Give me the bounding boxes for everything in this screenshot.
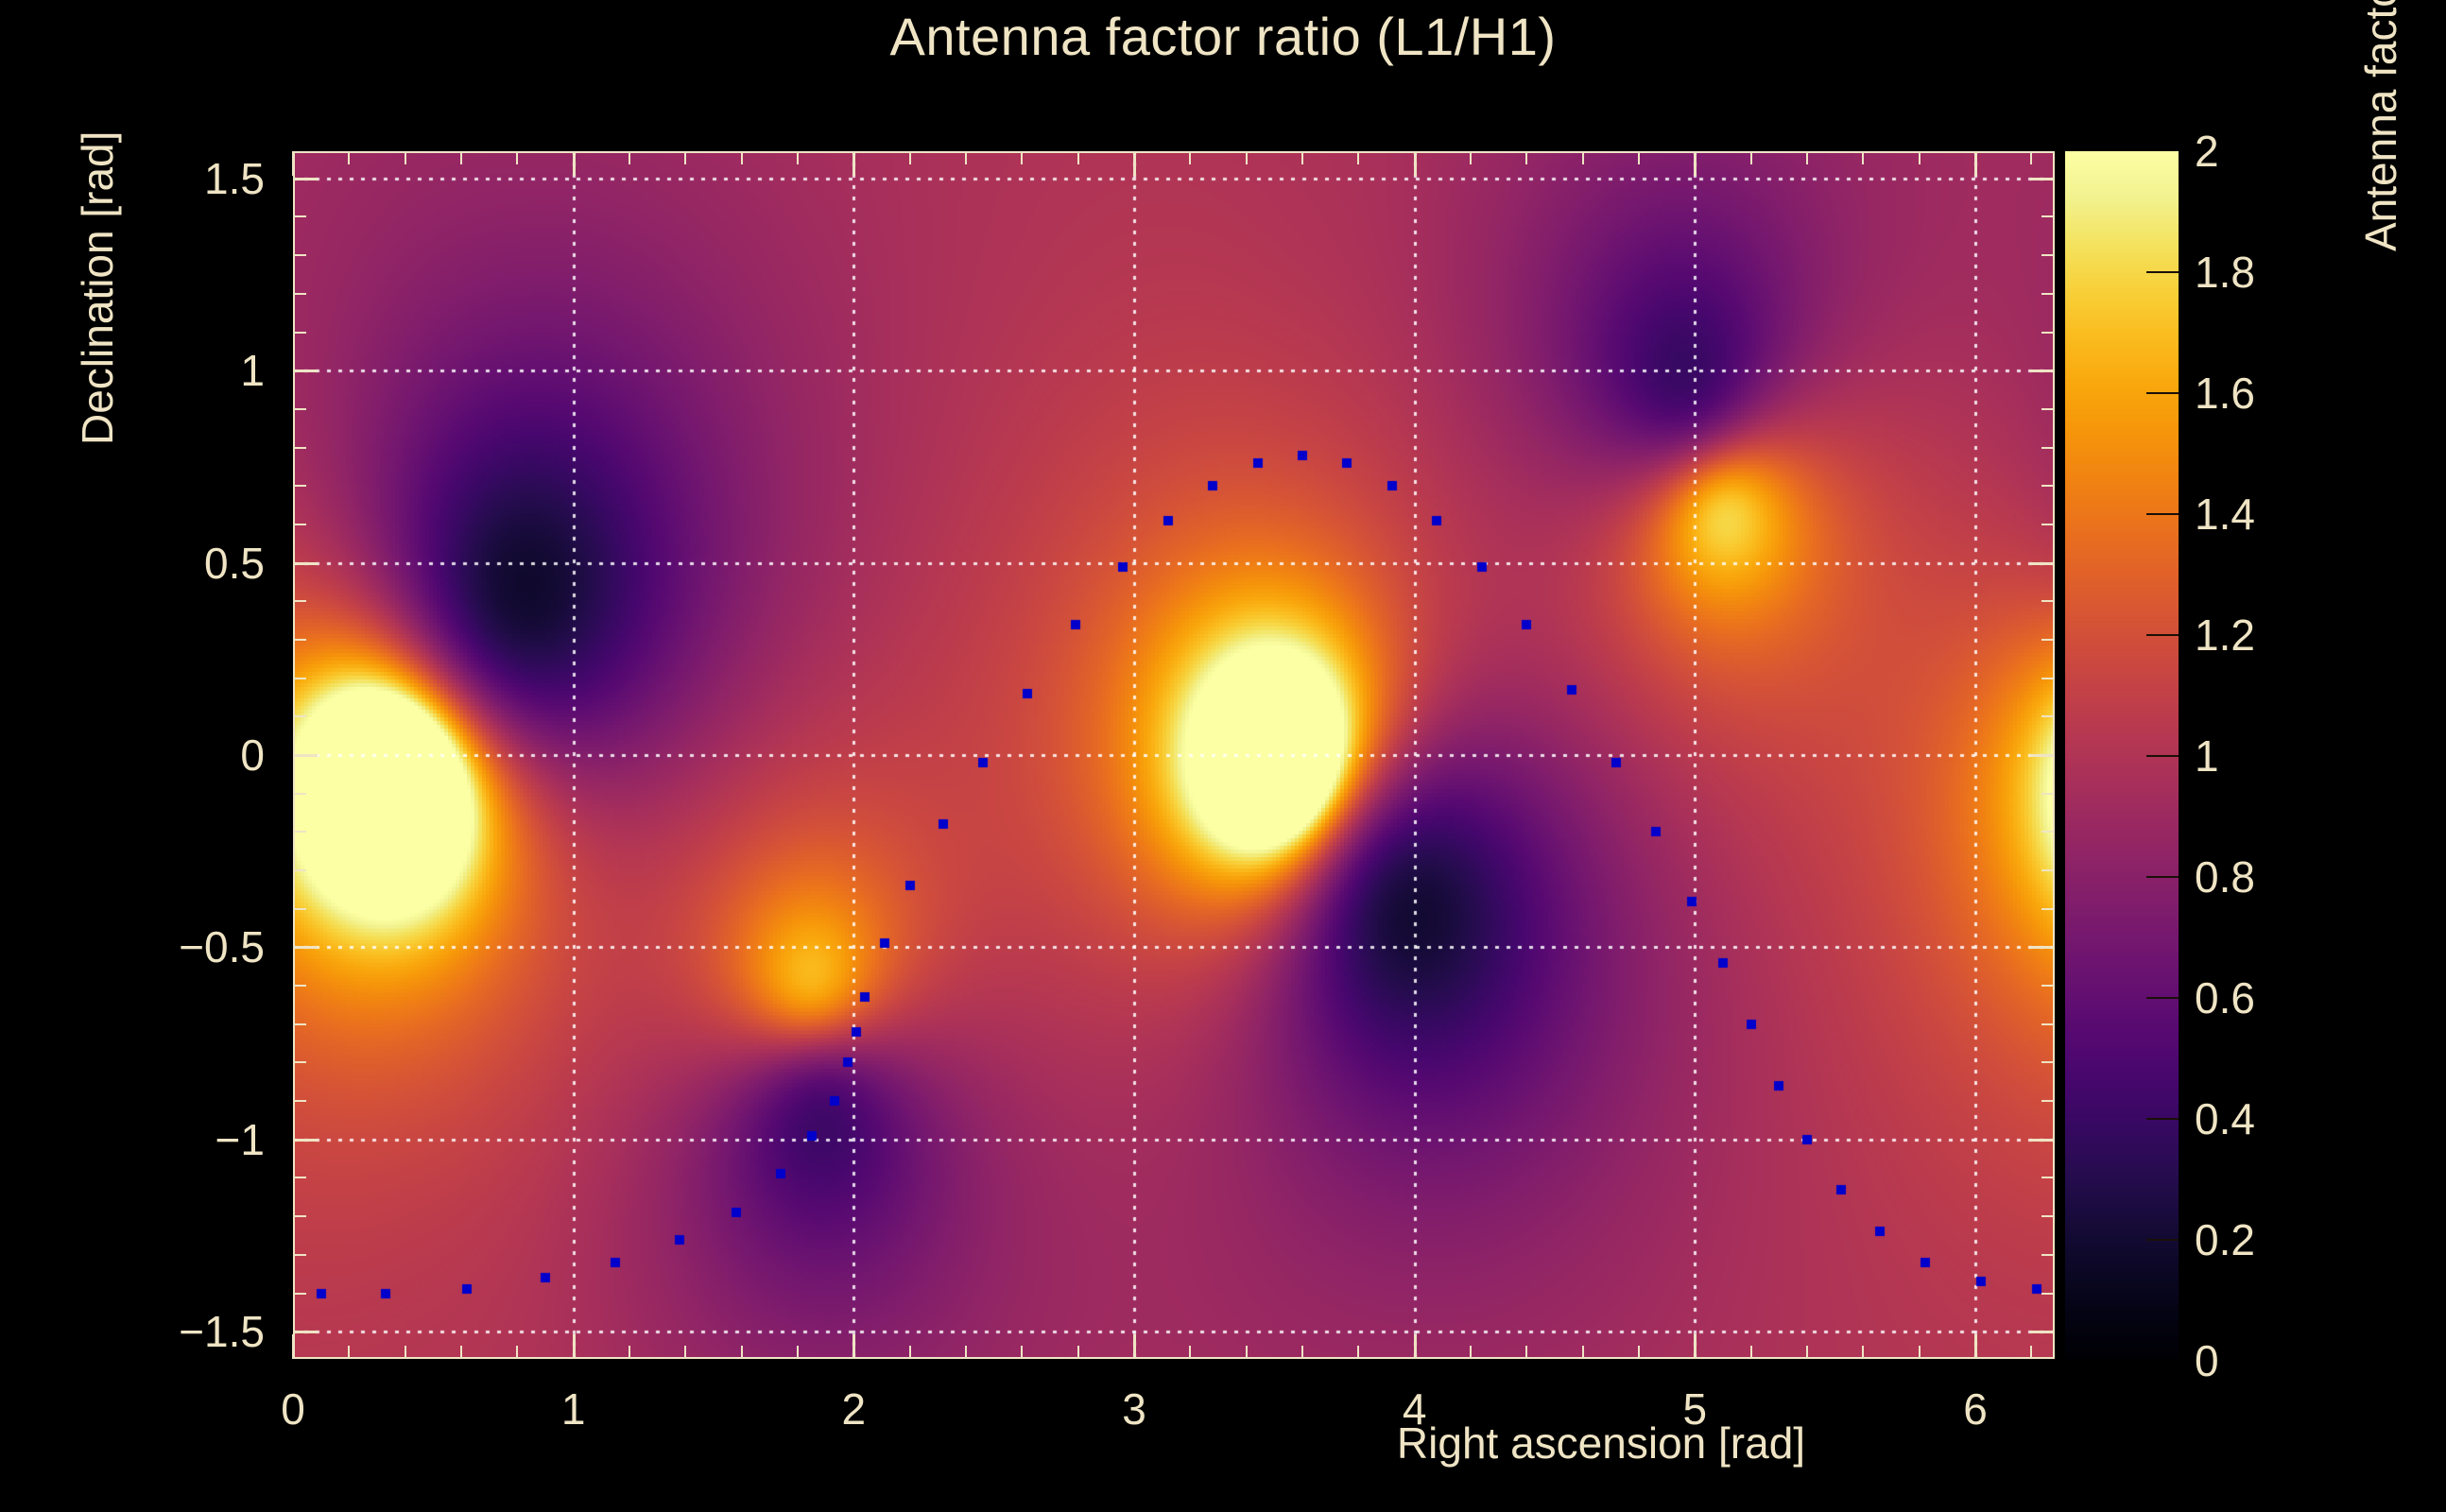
x-axis-minor-tick: [516, 1346, 518, 1359]
y-axis-minor-tick: [293, 293, 306, 295]
x-axis-minor-tick: [1750, 1346, 1752, 1359]
colorbar-tick: [2146, 876, 2179, 878]
y-axis-tick-label: 1.5: [104, 153, 265, 204]
y-axis-minor-tick-right: [2041, 1215, 2055, 1217]
y-axis-minor-tick: [293, 1293, 306, 1295]
y-axis-tick: [293, 178, 318, 180]
x-axis-tick: [1974, 1334, 1977, 1359]
colorbar-tick-label: 1.4: [2195, 489, 2255, 540]
x-axis-minor-tick: [1582, 1346, 1584, 1359]
y-axis-tick-label: 0: [104, 730, 265, 781]
y-axis-tick: [293, 946, 318, 949]
colorbar-tick-label: 0.4: [2195, 1093, 2255, 1144]
x-axis-tick: [1133, 1334, 1136, 1359]
y-axis-minor-tick: [293, 1100, 306, 1102]
y-axis-tick: [293, 1331, 318, 1333]
y-axis-minor-tick-right: [2041, 715, 2055, 717]
figure-canvas: Antenna factor ratio (L1/H1) Right ascen…: [0, 0, 2446, 1512]
x-axis-tick-label: 5: [1683, 1383, 1708, 1435]
y-axis-minor-tick-right: [2041, 1100, 2055, 1102]
heatmap-plot-area: [293, 151, 2055, 1359]
x-axis-tick: [853, 1334, 855, 1359]
x-axis-minor-tick: [1189, 1346, 1191, 1359]
x-axis-tick-label: 6: [1963, 1383, 1988, 1435]
y-axis-minor-tick: [293, 831, 306, 833]
x-axis-minor-tick-top: [1919, 151, 1921, 164]
y-axis-minor-tick: [293, 254, 306, 256]
y-axis-minor-tick: [293, 639, 306, 641]
x-axis-minor-tick: [1021, 1346, 1023, 1359]
colorbar-tick: [2146, 634, 2179, 636]
y-axis-minor-tick-right: [2041, 678, 2055, 679]
x-axis-minor-tick-top: [684, 151, 686, 164]
x-axis-minor-tick-top: [1246, 151, 1248, 164]
x-axis-minor-tick: [797, 1346, 799, 1359]
x-axis-title: Right ascension [rad]: [1397, 1417, 1805, 1469]
x-axis-minor-tick: [629, 1346, 630, 1359]
x-axis-minor-tick: [1919, 1346, 1921, 1359]
y-axis-minor-tick: [293, 793, 306, 795]
y-axis-tick: [293, 369, 318, 372]
x-axis-minor-tick: [1301, 1346, 1303, 1359]
x-axis-minor-tick: [741, 1346, 743, 1359]
x-axis-minor-tick: [2030, 1346, 2032, 1359]
x-axis-minor-tick: [965, 1346, 967, 1359]
y-axis-minor-tick: [293, 524, 306, 525]
x-axis-minor-tick: [1246, 1346, 1248, 1359]
y-axis-minor-tick: [293, 869, 306, 871]
y-axis-minor-tick-right: [2041, 254, 2055, 256]
y-axis-minor-tick: [293, 1061, 306, 1063]
x-axis-minor-tick-top: [1357, 151, 1359, 164]
colorbar-tick-label: 0.6: [2195, 972, 2255, 1023]
x-axis-minor-tick-top: [741, 151, 743, 164]
y-axis-tick-label: −0.5: [104, 921, 265, 972]
y-axis-minor-tick: [293, 408, 306, 410]
x-axis-minor-tick: [1077, 1346, 1079, 1359]
y-axis-tick: [293, 562, 318, 565]
x-axis-minor-tick-top: [1189, 151, 1191, 164]
x-axis-tick-top: [853, 151, 855, 176]
x-axis-tick: [1414, 1334, 1417, 1359]
x-axis-minor-tick-top: [965, 151, 967, 164]
y-axis-minor-tick: [293, 715, 306, 717]
x-axis-minor-tick-top: [405, 151, 406, 164]
x-axis-minor-tick-top: [909, 151, 911, 164]
x-axis-tick-label: 1: [561, 1383, 586, 1435]
x-axis-minor-tick-top: [1301, 151, 1303, 164]
x-axis-tick-top: [573, 151, 576, 176]
y-axis-minor-tick-right: [2041, 639, 2055, 641]
x-axis-minor-tick-top: [797, 151, 799, 164]
y-axis-minor-tick-right: [2041, 908, 2055, 910]
x-axis-minor-tick: [1357, 1346, 1359, 1359]
x-axis-minor-tick-top: [516, 151, 518, 164]
y-axis-minor-tick-right: [2041, 408, 2055, 410]
x-axis-minor-tick-top: [1525, 151, 1527, 164]
x-axis-minor-tick-top: [629, 151, 630, 164]
y-axis-tick-right: [2030, 562, 2055, 565]
y-axis-minor-tick: [293, 215, 306, 217]
x-axis-minor-tick: [684, 1346, 686, 1359]
x-axis-minor-tick: [1470, 1346, 1472, 1359]
x-axis-minor-tick-top: [1021, 151, 1023, 164]
colorbar-tick: [2146, 1239, 2179, 1241]
source-track-markers: [293, 151, 2055, 1359]
y-axis-tick-label: 0.5: [104, 538, 265, 589]
colorbar-tick-label: 1.8: [2195, 247, 2255, 298]
y-axis-minor-tick-right: [2041, 1293, 2055, 1295]
y-axis-tick-right: [2030, 1331, 2055, 1333]
x-axis-tick: [573, 1334, 576, 1359]
colorbar-tick-label: 0.8: [2195, 851, 2255, 902]
x-axis-minor-tick: [1806, 1346, 1808, 1359]
y-axis-minor-tick-right: [2041, 332, 2055, 334]
x-axis-tick-label: 4: [1403, 1383, 1427, 1435]
y-axis-minor-tick: [293, 332, 306, 334]
colorbar-tick-label: 1.6: [2195, 368, 2255, 419]
y-axis-minor-tick-right: [2041, 793, 2055, 795]
x-axis-tick-top: [292, 151, 295, 176]
x-axis-minor-tick: [1525, 1346, 1527, 1359]
y-axis-tick-right: [2030, 178, 2055, 180]
x-axis-minor-tick-top: [1470, 151, 1472, 164]
y-axis-minor-tick-right: [2041, 1254, 2055, 1256]
y-axis-minor-tick-right: [2041, 1177, 2055, 1178]
colorbar-tick: [2146, 997, 2179, 999]
colorbar-tick: [2146, 755, 2179, 757]
x-axis-minor-tick-top: [1638, 151, 1640, 164]
colorbar-tick-label: 0.2: [2195, 1214, 2255, 1265]
y-axis-minor-tick-right: [2041, 1061, 2055, 1063]
y-axis-minor-tick-right: [2041, 485, 2055, 487]
x-axis-minor-tick-top: [1806, 151, 1808, 164]
x-axis-minor-tick-top: [2030, 151, 2032, 164]
y-axis-minor-tick: [293, 447, 306, 449]
x-axis-tick: [292, 1334, 295, 1359]
y-axis-minor-tick-right: [2041, 600, 2055, 602]
x-axis-tick-label: 3: [1122, 1383, 1146, 1435]
y-axis-tick-label: 1: [104, 345, 265, 396]
y-axis-minor-tick: [293, 1254, 306, 1256]
y-axis-minor-tick-right: [2041, 869, 2055, 871]
colorbar-tick: [2146, 1118, 2179, 1120]
x-axis-minor-tick: [909, 1346, 911, 1359]
x-axis-tick: [1694, 1334, 1697, 1359]
y-axis-tick-right: [2030, 1139, 2055, 1142]
y-axis-minor-tick-right: [2041, 985, 2055, 987]
y-axis-tick-right: [2030, 369, 2055, 372]
colorbar-tick: [2146, 271, 2179, 273]
y-axis-minor-tick: [293, 908, 306, 910]
x-axis-minor-tick: [405, 1346, 406, 1359]
x-axis-minor-tick: [1638, 1346, 1640, 1359]
colorbar-tick-label: 1: [2195, 730, 2219, 782]
x-axis-minor-tick-top: [348, 151, 350, 164]
x-axis-minor-tick-top: [1077, 151, 1079, 164]
y-axis-tick-right: [2030, 754, 2055, 757]
y-axis-minor-tick: [293, 985, 306, 987]
y-axis-minor-tick: [293, 1023, 306, 1025]
y-axis-minor-tick-right: [2041, 215, 2055, 217]
x-axis-minor-tick-top: [460, 151, 462, 164]
y-axis-tick-right: [2030, 946, 2055, 949]
colorbar-tick: [2146, 513, 2179, 515]
x-axis-tick-top: [1694, 151, 1697, 176]
y-axis-minor-tick-right: [2041, 1023, 2055, 1025]
colorbar-tick: [2146, 392, 2179, 394]
x-axis-minor-tick-top: [1750, 151, 1752, 164]
y-axis-tick-label: −1: [104, 1114, 265, 1165]
colorbar-tick-label: 2: [2195, 126, 2219, 177]
x-axis-minor-tick: [1862, 1346, 1864, 1359]
y-axis-minor-tick-right: [2041, 524, 2055, 525]
x-axis-tick-top: [1414, 151, 1417, 176]
x-axis-minor-tick-top: [1582, 151, 1584, 164]
colorbar-title: Antenna factor ratio (L1/H1): [2355, 0, 2406, 251]
y-axis-minor-tick: [293, 1215, 306, 1217]
y-axis-minor-tick: [293, 1177, 306, 1178]
y-axis-minor-tick-right: [2041, 447, 2055, 449]
figure-title: Antenna factor ratio (L1/H1): [0, 6, 2446, 67]
y-axis-minor-tick: [293, 485, 306, 487]
x-axis-minor-tick: [348, 1346, 350, 1359]
x-axis-tick-top: [1974, 151, 1977, 176]
y-axis-minor-tick: [293, 600, 306, 602]
x-axis-tick-label: 2: [842, 1383, 867, 1435]
colorbar-tick-label: 1.2: [2195, 610, 2255, 661]
x-axis-minor-tick-top: [1862, 151, 1864, 164]
y-axis-minor-tick: [293, 678, 306, 679]
x-axis-tick-top: [1133, 151, 1136, 176]
y-axis-minor-tick-right: [2041, 831, 2055, 833]
y-axis-tick-label: −1.5: [104, 1306, 265, 1357]
x-axis-tick-label: 0: [281, 1383, 305, 1435]
colorbar-tick-label: 0: [2195, 1335, 2219, 1386]
y-axis-tick: [293, 754, 318, 757]
y-axis-tick: [293, 1139, 318, 1142]
y-axis-minor-tick-right: [2041, 293, 2055, 295]
x-axis-minor-tick: [460, 1346, 462, 1359]
